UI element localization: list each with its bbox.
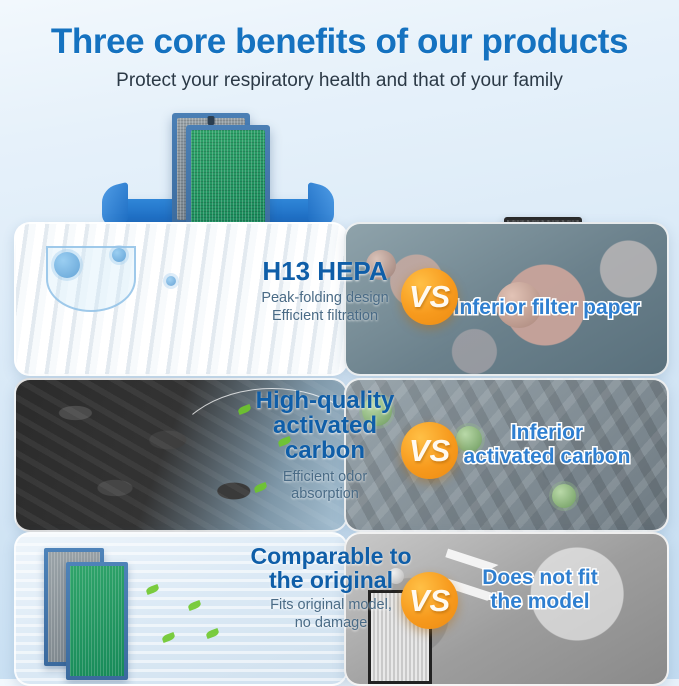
page-title: Three core benefits of our products	[0, 22, 679, 62]
filter-mesh	[191, 130, 265, 230]
filter-mesh	[70, 566, 124, 676]
leaf-icon	[161, 632, 176, 643]
leaf-icon	[205, 628, 220, 639]
infographic-canvas: Three core benefits of our products Prot…	[0, 0, 679, 679]
virus-particle	[366, 250, 396, 280]
panel-our-carbon-image	[14, 378, 348, 532]
virus-particle	[362, 396, 392, 426]
airflow-line	[166, 388, 348, 532]
our-filter-graphic	[66, 562, 128, 680]
page-subtitle: Protect your respiratory health and that…	[0, 70, 679, 92]
label-does-not-fit: Does not fit the model	[440, 566, 640, 614]
label-inferior-activated-carbon: Inferior activated carbon	[432, 421, 662, 469]
hero-product-row: OUR FILTER HIGH-QUALITY FILTERS others	[0, 105, 679, 230]
particle	[388, 568, 404, 584]
vs-badge-2: VS	[401, 422, 458, 479]
line-2: activated carbon	[432, 445, 662, 469]
virus-particle	[166, 276, 176, 286]
leaf-icon	[145, 584, 160, 595]
panel-our-fitment-image	[14, 532, 348, 686]
line-1: Inferior	[432, 421, 662, 445]
virus-particle	[552, 484, 576, 508]
leaf-icon	[187, 600, 202, 611]
shield-icon	[46, 246, 136, 312]
vs-badge-1: VS	[401, 268, 458, 325]
filter-tab-icon	[208, 116, 215, 125]
panel-our-hepa-image	[14, 222, 348, 376]
label-inferior-filter-paper: Inferior filter paper	[432, 296, 662, 320]
our-filter-front	[186, 125, 270, 235]
line-1: Does not fit	[440, 566, 640, 590]
vs-badge-3: VS	[401, 572, 458, 629]
line-2: the model	[440, 590, 640, 614]
